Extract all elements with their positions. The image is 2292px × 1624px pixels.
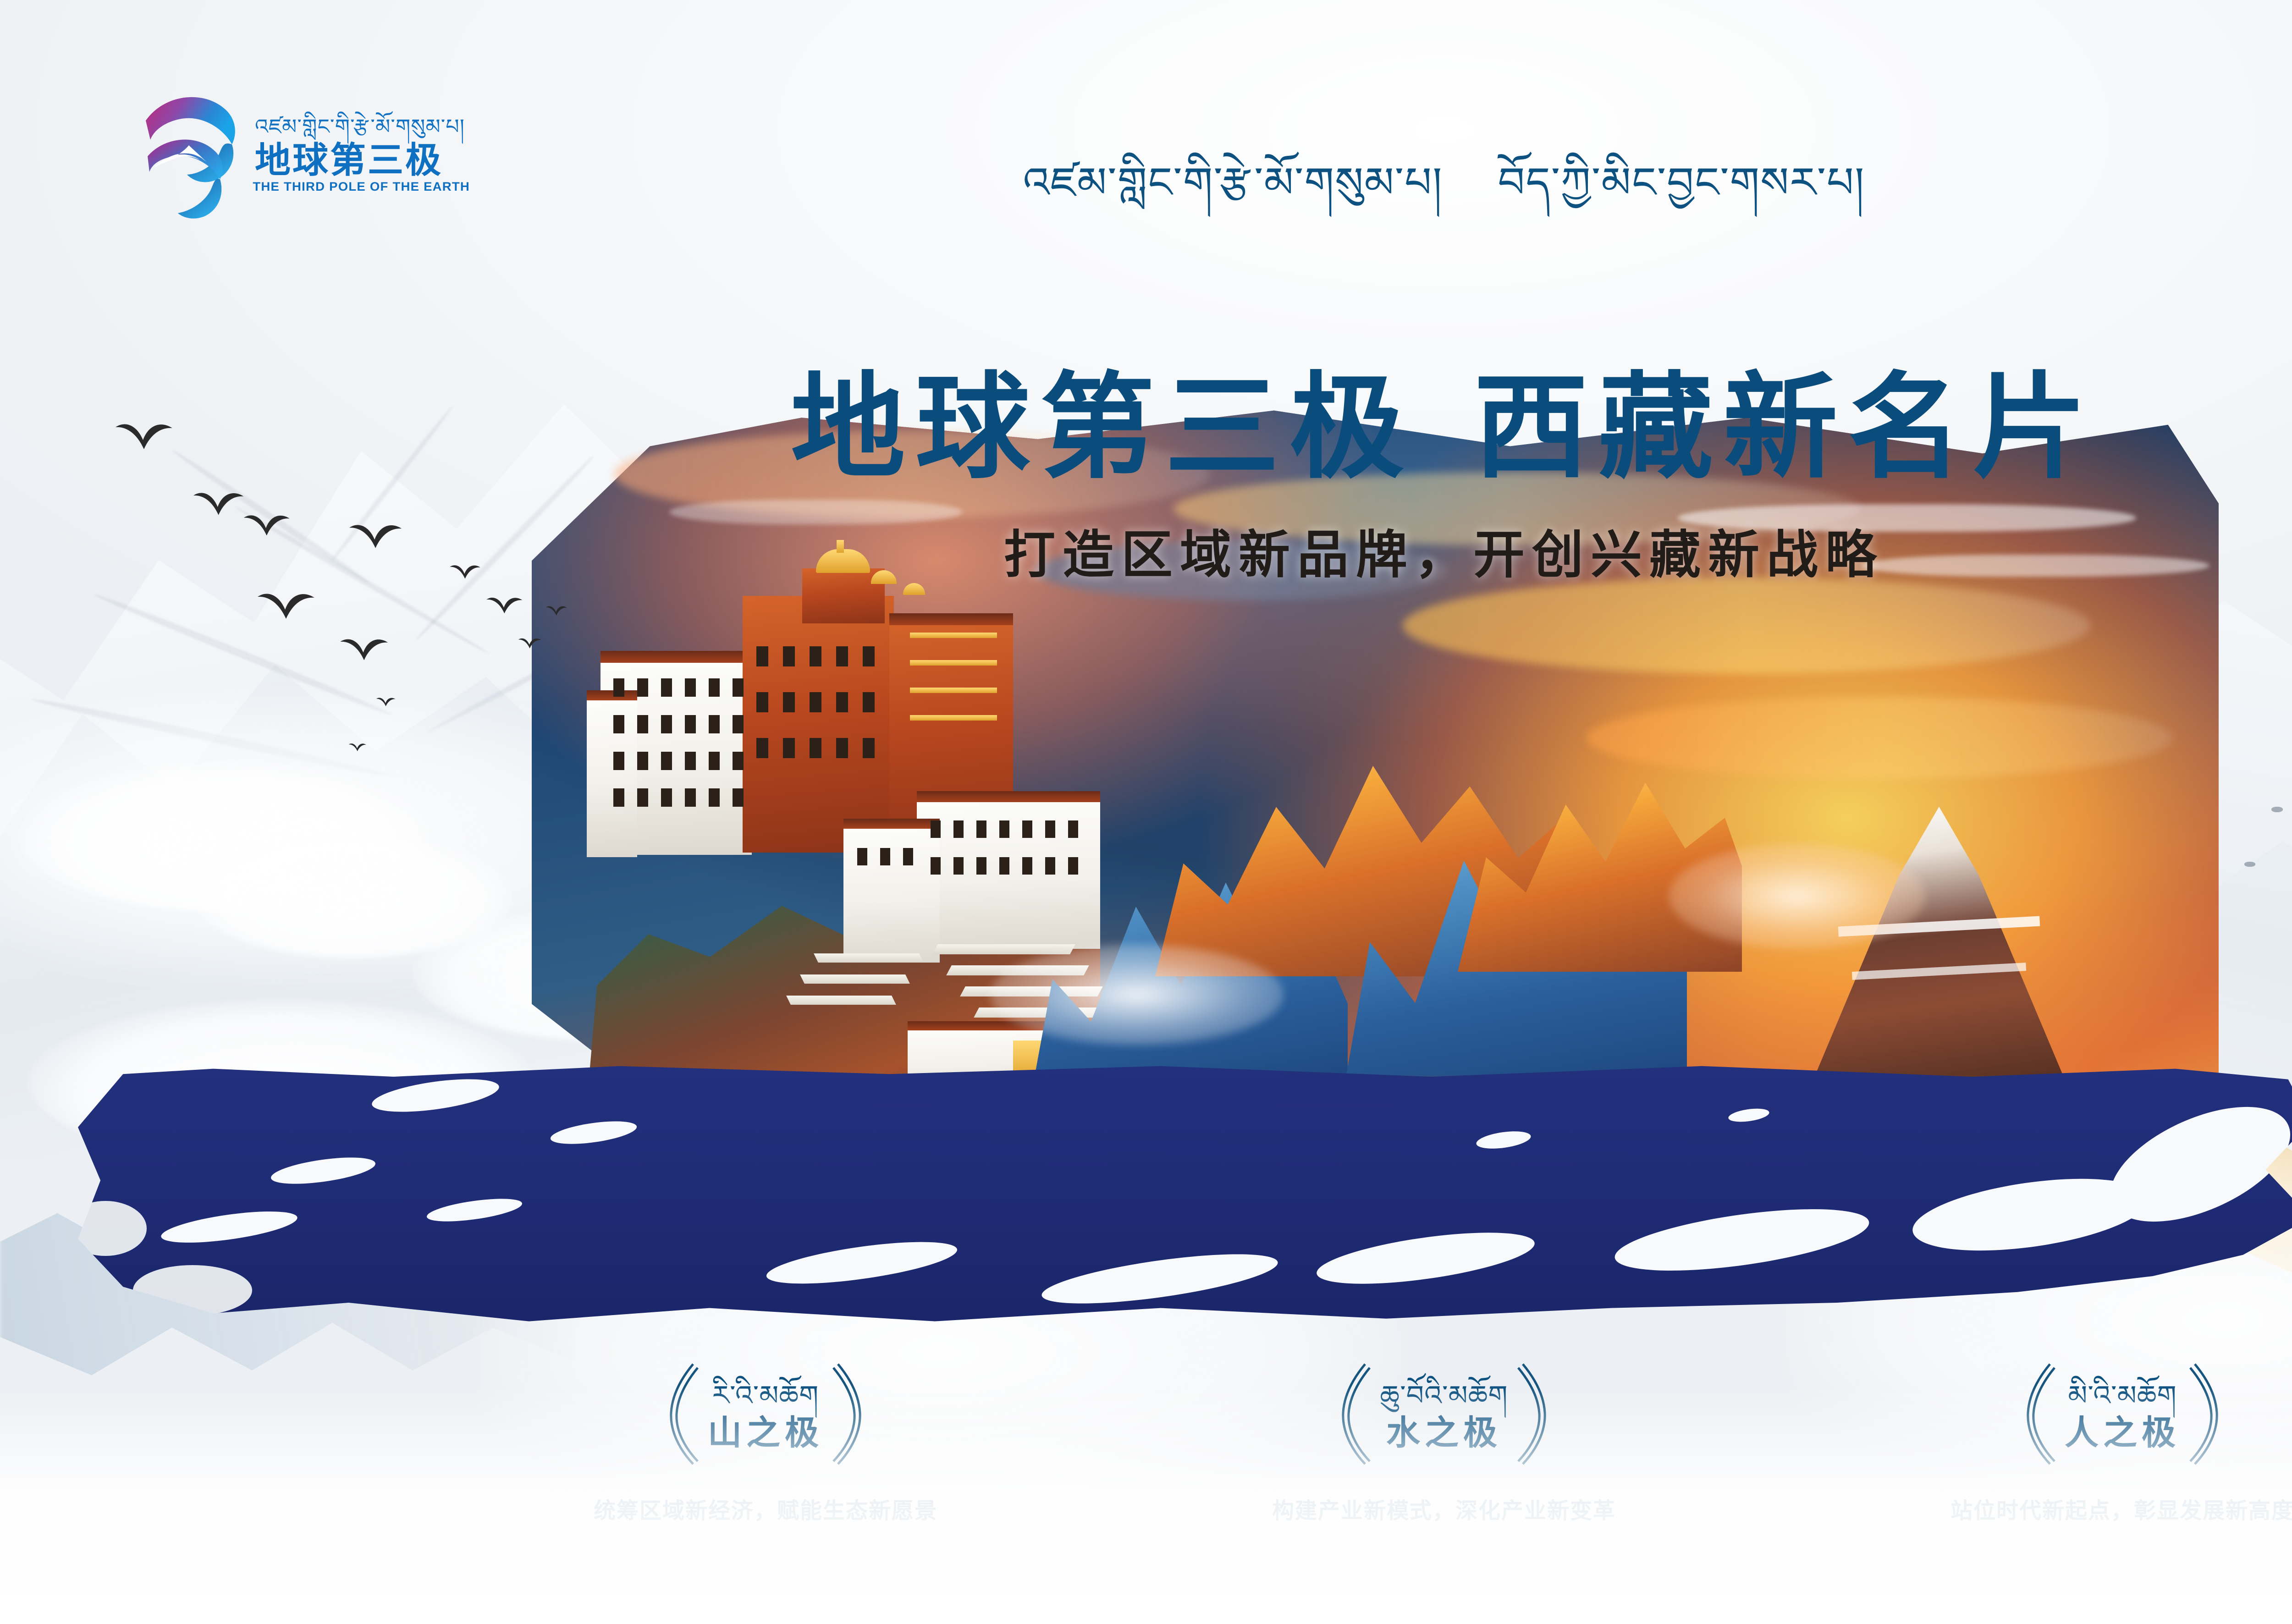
bird-icon [376,697,396,707]
pillar-name: 山之极 [708,1416,823,1450]
bracket-left-icon [1333,1361,1372,1467]
bracket-right-icon [2187,1361,2227,1467]
bird-icon [339,637,390,661]
pillar-people: མི་འི་མཆོག 人之极 站位时代新起点，彰显发展新高度 [1870,1357,2292,1525]
page-title: 地球第三极西藏新名片 [0,370,2292,485]
pillar-name: 人之极 [2065,1416,2180,1450]
bracket-left-icon [2018,1361,2057,1467]
pillar-heading: རི་འི་མཆོག 山之极 [513,1357,1018,1471]
header-tibetan-part-2: བོད་ཀྱི་མིང་བྱང་གསར་པ། [1498,154,1865,213]
header-tibetan-line: འཛམ་གླིང་གི་རྩེ་མོ་གསུམ་པ།བོད་ཀྱི་མིང་བྱ… [0,154,2292,213]
bird-icon [257,591,316,620]
title-part-2: 西藏新名片 [1474,363,2097,491]
bird-icon [486,596,523,614]
pillars-row: རི་འི་མཆོག 山之极 统筹区域新经济，赋能生态新愿景 ཆུ་བོའི་མ… [0,1357,2292,1586]
pillar-labels: རི་འི་མཆོག 山之极 [708,1379,823,1450]
bracket-left-icon [661,1361,700,1467]
central-artwork [532,403,2219,1118]
bird-icon [518,637,542,649]
poster-canvas: འཛམ་གླིང་གི་རྩེ་མོ་གསུམ་པ། 地球第三极 THE THI… [0,0,2292,1624]
bird-icon [193,490,245,516]
logo-tibetan-text: འཛམ་གླིང་གི་རྩེ་མོ་གསུམ་པ། [255,113,468,141]
pillar-heading: མི་འི་མཆོག 人之极 [1870,1357,2292,1471]
pillar-description: 构建产业新模式，深化产业新变革 [1192,1492,1696,1525]
pillar-tibetan: ཆུ་བོའི་མཆོག [1380,1379,1508,1413]
pillar-description: 统筹区域新经济，赋能生态新愿景 [513,1492,1018,1525]
pillar-labels: མི་འི་མཆོག 人之极 [2065,1379,2180,1450]
pillar-mountain: རི་འི་མཆོག 山之极 统筹区域新经济，赋能生态新愿景 [513,1357,1018,1525]
bird-icon [545,605,567,616]
navy-brush-stroke [78,1063,2292,1329]
header-tibetan-part-1: འཛམ་གླིང་གི་རྩེ་མོ་གསུམ་པ། [1023,154,1443,213]
bracket-right-icon [831,1361,870,1467]
pillar-labels: ཆུ་བོའི་མཆོག 水之极 [1380,1379,1508,1450]
pillar-heading: ཆུ་བོའི་མཆོག 水之极 [1192,1357,1696,1471]
pillar-water: ཆུ་བོའི་མཆོག 水之极 构建产业新模式，深化产业新变革 [1192,1357,1696,1525]
pillar-description: 站位时代新起点，彰显发展新高度 [1870,1492,2292,1525]
page-subtitle: 打造区域新品牌，开创兴藏新战略 [0,529,2292,581]
bird-icon [348,743,367,752]
pillar-tibetan: མི་འི་མཆོག [2068,1379,2176,1413]
title-part-1: 地球第三极 [791,363,1414,491]
pillar-tibetan: རི་འི་མཆོག [712,1379,819,1413]
pillar-name: 水之极 [1386,1416,1502,1450]
bracket-right-icon [1515,1361,1555,1467]
